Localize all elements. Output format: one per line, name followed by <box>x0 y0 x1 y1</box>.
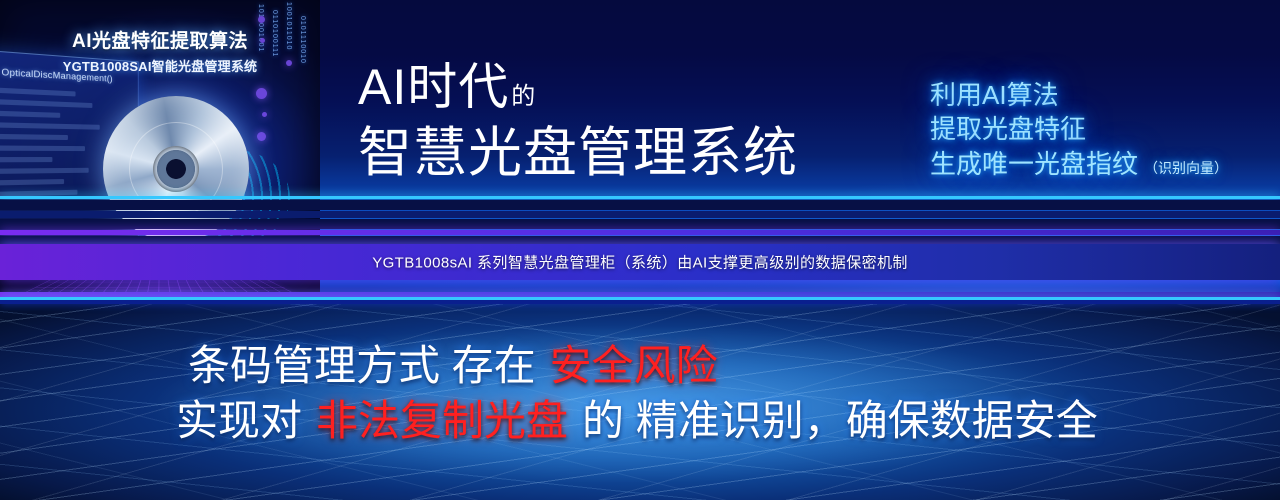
bottom-line-1-part1: 条码管理方式 存在 <box>188 342 536 389</box>
promo-banner: OpticalDiscManagement() 1011001001 01101… <box>0 0 1280 500</box>
code-line <box>0 99 92 108</box>
top-hero-section: OpticalDiscManagement() 1011001001 01101… <box>0 0 1280 300</box>
code-line <box>0 111 60 118</box>
feature-item-2-label: 提取光盘特征 <box>930 114 1086 144</box>
code-line <box>0 157 52 162</box>
feature-item-2: 提取光盘特征 <box>930 112 1280 146</box>
panel-title: AI光盘特征提取算法 <box>0 26 320 53</box>
headline-block: AI时代的 智慧光盘管理系统 <box>358 62 898 180</box>
headline-line-2: 智慧光盘管理系统 <box>358 126 898 180</box>
code-line <box>0 134 68 140</box>
bottom-line-1-highlight: 安全风险 <box>550 342 718 389</box>
feature-item-3-label: 生成唯一光盘指纹 <box>930 149 1138 179</box>
feature-item-3: 生成唯一光盘指纹（识别向量） <box>930 147 1280 181</box>
code-line <box>0 145 85 151</box>
subtitle-bar-text: YGTB1008sAI 系列智慧光盘管理柜（系统）由AI支撑更高级别的数据保密机… <box>0 252 1280 273</box>
panel-subtitle: YGTB1008SAI智能光盘管理系统 <box>0 56 320 75</box>
subtitle-bar: YGTB1008sAI 系列智慧光盘管理柜（系统）由AI支撑更高级别的数据保密机… <box>0 244 1280 280</box>
code-line <box>0 88 76 97</box>
feature-item-3-note: （识别向量） <box>1144 160 1228 176</box>
headline-line-1: AI时代的 <box>358 62 898 112</box>
bottom-line-1: 条码管理方式 存在安全风险 <box>188 344 1228 389</box>
headline-line-1-main: AI时代 <box>358 59 509 115</box>
bottom-message-section: 条码管理方式 存在安全风险 实现对非法复制光盘的 精准识别，确保数据安全 <box>0 300 1280 500</box>
feature-item-1: 利用AI算法 <box>930 78 1280 112</box>
bottom-line-2-highlight: 非法复制光盘 <box>316 397 568 444</box>
band-navy <box>0 211 1280 218</box>
band-dark <box>0 219 1280 229</box>
band-cyan <box>0 196 1280 199</box>
band-dark <box>0 200 1280 210</box>
feature-item-1-label: 利用AI算法 <box>930 80 1059 110</box>
code-line <box>0 179 64 185</box>
feature-list: 利用AI算法 提取光盘特征 生成唯一光盘指纹（识别向量） <box>930 78 1280 181</box>
band-purple <box>0 230 1280 235</box>
bottom-line-2-part2: 的 精准识别，确保数据安全 <box>582 397 1098 444</box>
bottom-line-2: 实现对非法复制光盘的 精准识别，确保数据安全 <box>176 399 1228 444</box>
bottom-line-2-part1: 实现对 <box>176 397 302 444</box>
section-divider <box>0 300 1280 304</box>
bottom-text-block: 条码管理方式 存在安全风险 实现对非法复制光盘的 精准识别，确保数据安全 <box>188 344 1228 443</box>
headline-line-1-suffix: 的 <box>511 83 536 110</box>
code-line <box>0 168 89 174</box>
code-line <box>0 122 100 129</box>
